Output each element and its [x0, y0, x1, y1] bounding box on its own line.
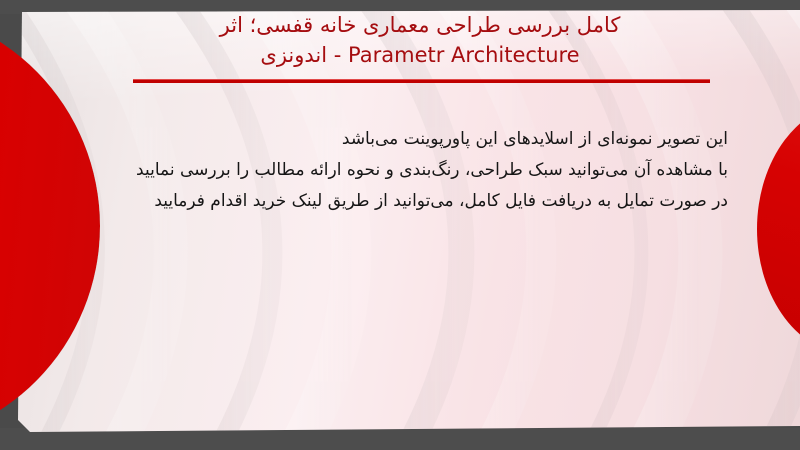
body-text-line-3: در صورت تمایل به دریافت فایل کامل، می‌تو…	[60, 186, 728, 217]
slide-frame-bottom-bar	[0, 428, 800, 450]
title-underline-rule	[133, 79, 710, 83]
body-text-line-1: این تصویر نمونه‌ای از اسلایدهای این پاور…	[60, 124, 728, 155]
slide-body-text: این تصویر نمونه‌ای از اسلایدهای این پاور…	[60, 124, 760, 217]
body-text-line-2: با مشاهده آن می‌توانید سبک طراحی، رنگ‌بن…	[60, 155, 728, 186]
slide-title-line-2: Parametr Architecture - اندونزی	[120, 40, 720, 70]
slide-title: کامل بررسی طراحی معماری خانه قفسی؛ اثر P…	[120, 10, 720, 70]
presentation-slide: کامل بررسی طراحی معماری خانه قفسی؛ اثر P…	[0, 0, 800, 450]
slide-title-line-1: کامل بررسی طراحی معماری خانه قفسی؛ اثر	[120, 10, 720, 40]
